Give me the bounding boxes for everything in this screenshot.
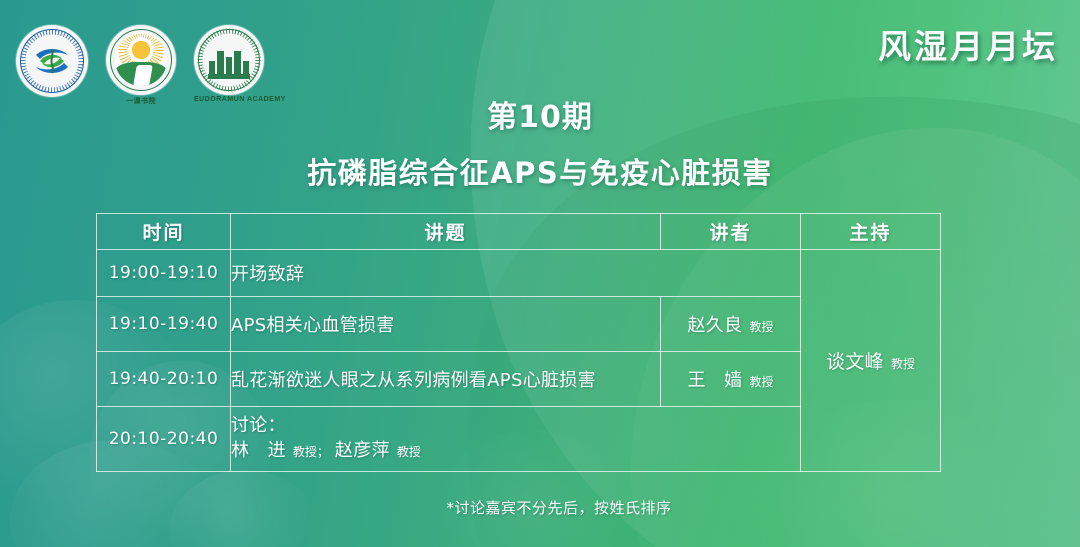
footnote: *讨论嘉宾不分先后，按姓氏排序 <box>0 497 1080 518</box>
speaker-name: 王 嫱 <box>688 370 743 391</box>
discussant-title-2: 教授 <box>397 445 421 459</box>
row-discussion: 讨论： 林 进教授；赵彦萍教授 <box>231 407 801 472</box>
row-topic: 开场致辞 <box>231 250 801 297</box>
discussant-list: 林 进教授；赵彦萍教授 <box>231 438 800 464</box>
discussant-name-2: 赵彦萍 <box>335 440 390 461</box>
row-time: 20:10-20:40 <box>97 407 231 472</box>
subject-title: 抗磷脂综合征APS与免疫心脏损害 <box>0 150 1080 192</box>
header-speaker: 讲者 <box>661 214 801 250</box>
row-time: 19:40-20:10 <box>97 352 231 407</box>
title-block: 第10期 抗磷脂综合征APS与免疫心脏损害 <box>0 92 1080 192</box>
header-time: 时间 <box>97 214 231 250</box>
footnote-text: *讨论嘉宾不分先后，按姓氏排序 <box>408 499 671 517</box>
table-row: 19:00-19:10 开场致辞 谈文峰教授 <box>97 250 941 297</box>
discussion-label: 讨论： <box>231 414 800 438</box>
row-topic: APS相关心血管损害 <box>231 297 661 352</box>
table-header-row: 时间 讲题 讲者 主持 <box>97 214 941 250</box>
discussant-title-1: 教授； <box>293 445 329 459</box>
hospital-swirl-icon <box>30 39 74 83</box>
episode-title: 第10期 <box>0 92 1080 136</box>
host-name: 谈文峰 <box>826 351 884 373</box>
host-cell: 谈文峰教授 <box>801 250 941 472</box>
speaker-name: 赵久良 <box>688 315 743 336</box>
row-time: 19:00-19:10 <box>97 250 231 297</box>
row-speaker: 赵久良教授 <box>661 297 801 352</box>
castle-icon <box>209 49 249 77</box>
poster-canvas: 一课书院 EUDORAMUN ACADEMY 风湿月月坛 第10期 抗磷脂综合征… <box>0 0 1080 547</box>
brand-title: 风湿月月坛 <box>878 20 1058 68</box>
header-host: 主持 <box>801 214 941 250</box>
hospital-logo <box>16 25 88 98</box>
discussant-name-1: 林 进 <box>231 440 286 461</box>
speaker-title: 教授 <box>749 375 773 389</box>
speaker-title: 教授 <box>749 320 773 334</box>
row-time: 19:10-19:40 <box>97 297 231 352</box>
row-speaker: 王 嫱教授 <box>661 352 801 407</box>
row-topic: 乱花渐欲迷人眼之从系列病例看APS心脏损害 <box>231 352 661 407</box>
host-title: 教授 <box>891 357 915 371</box>
header-topic: 讲题 <box>231 214 661 250</box>
schedule-table: 时间 讲题 讲者 主持 19:00-19:10 开场致辞 谈文峰教授 19:10… <box>96 213 941 472</box>
